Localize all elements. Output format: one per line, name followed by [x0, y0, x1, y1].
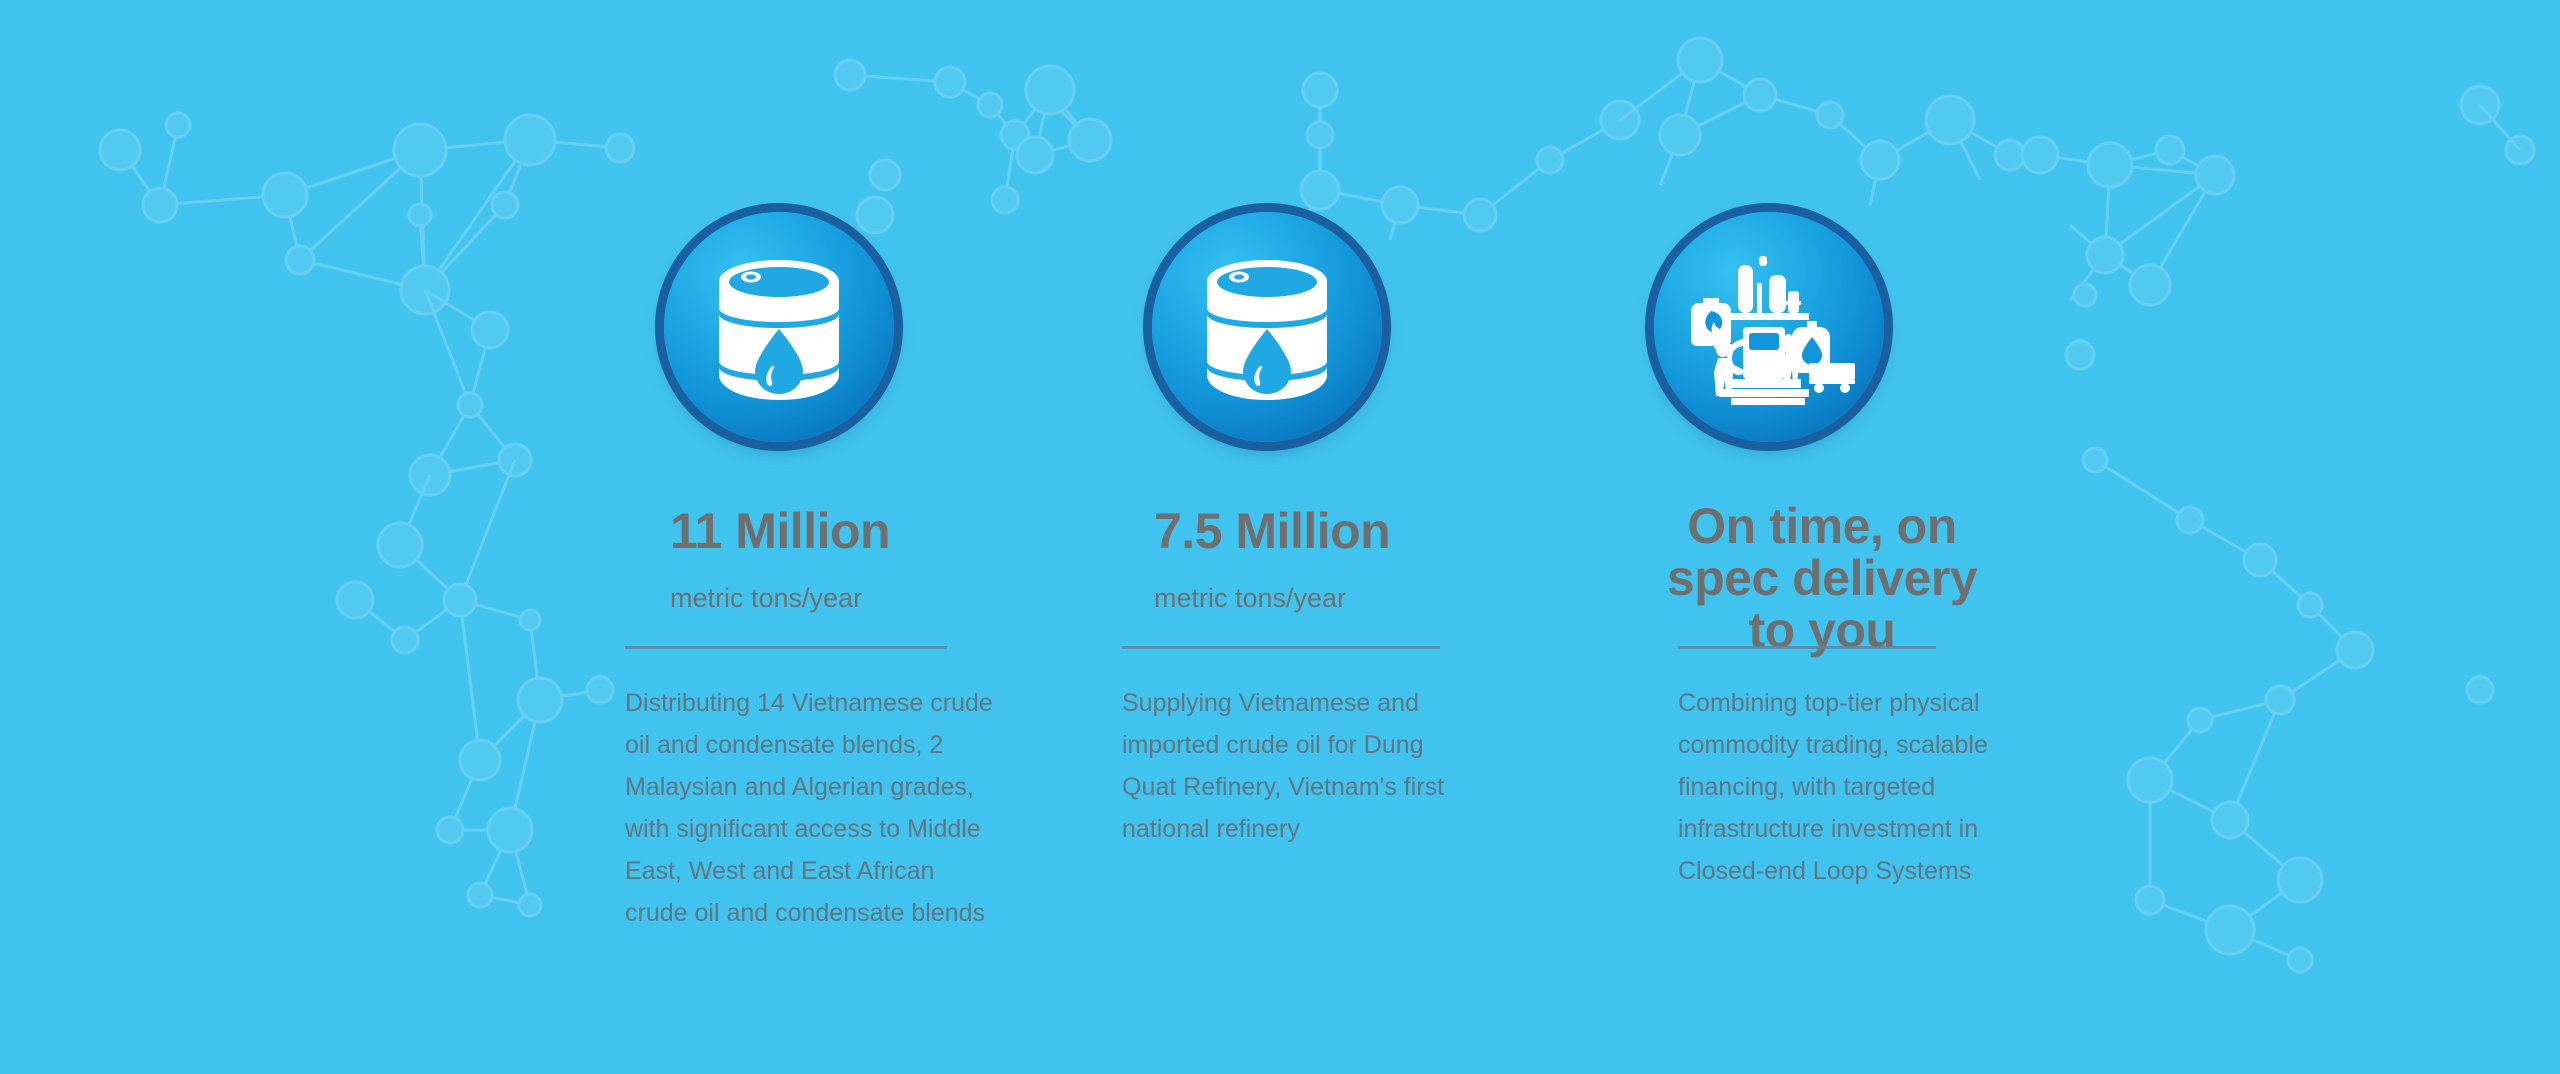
stat-headline: 11 Million — [670, 505, 890, 557]
stat-column-2: 7.5 Million metric tons/year Supplying V… — [1122, 0, 1652, 1074]
stats-row: 11 Million metric tons/year Distributing… — [0, 0, 2560, 1074]
oil-barrel-icon — [1193, 251, 1341, 403]
stat-divider — [625, 646, 947, 649]
stat-divider — [1122, 646, 1440, 649]
oil-barrel-icon — [705, 251, 853, 403]
oil-barrel-icon-badge — [664, 212, 894, 442]
refinery-distribution-icon-badge — [1654, 212, 1884, 442]
stat-subline: metric tons/year — [1154, 583, 1346, 614]
stat-body-copy: Combining top-tier physical commodity tr… — [1678, 682, 1998, 892]
stat-column-3: On time, on spec delivery to you Combini… — [1652, 0, 1982, 1074]
stat-body-copy: Distributing 14 Vietnamese crude oil and… — [625, 682, 995, 934]
stat-subline: metric tons/year — [670, 583, 862, 614]
stat-headline: 7.5 Million — [1154, 505, 1390, 557]
refinery-distribution-icon — [1681, 239, 1857, 415]
stat-headline: On time, on spec delivery to you — [1642, 500, 2002, 656]
oil-barrel-icon-badge — [1152, 212, 1382, 442]
stat-body-copy: Supplying Vietnamese and imported crude … — [1122, 682, 1462, 850]
stat-column-1: 11 Million metric tons/year Distributing… — [622, 0, 1122, 1074]
stat-divider — [1678, 646, 1936, 649]
